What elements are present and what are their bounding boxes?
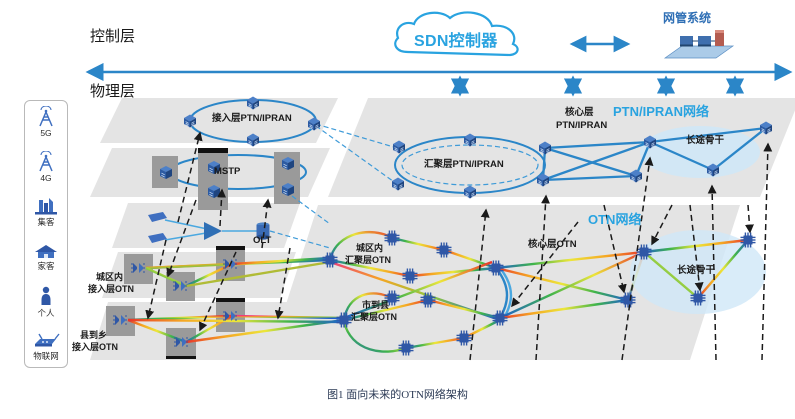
otn-core-label: 核心层OTN [528, 240, 577, 251]
legend-item-personal[interactable]: 个人 [25, 285, 67, 319]
legend-item-home[interactable]: 家客 [25, 242, 67, 272]
ptn-access-ring-label: 接入层PTN/IPRAN [212, 114, 292, 125]
nms-label: 网管系统 [663, 12, 711, 25]
legend-label-enterprise: 集客 [25, 216, 67, 228]
mstp-label: MSTP [214, 167, 240, 178]
sdn-controller-label: SDN控制器 [414, 33, 498, 51]
ptn-network-title: PTN/IPRAN网络 [613, 105, 709, 120]
mstp-pads [152, 148, 300, 210]
otn-county-access-label-line2: 接入层OTN [72, 342, 118, 352]
otn-network-title: OTN网络 [588, 213, 641, 228]
legend-label-personal: 个人 [25, 307, 67, 319]
ptn-agg-ring-label: 汇聚层PTN/IPRAN [424, 160, 504, 171]
legend-label-4g: 4G [25, 173, 67, 183]
legend-item-5g[interactable]: 5G [25, 106, 67, 138]
legend-item-4g[interactable]: 4G [25, 151, 67, 183]
service-legend-panel: 5G 4G 集客 [24, 100, 68, 368]
otn-backbone-label: 长途骨干 [677, 266, 715, 277]
antenna-5g-icon [33, 106, 59, 128]
figure-caption: 图1 面向未来的OTN网络架构 [0, 386, 795, 402]
otn-urban-agg-label-line2: 汇聚层OTN [345, 255, 391, 265]
legend-label-5g: 5G [25, 128, 67, 138]
enterprise-building-icon [32, 196, 60, 216]
iot-gateway-icon [31, 332, 61, 350]
physical-layer-label: 物理层 [90, 84, 135, 101]
legend-item-iot[interactable]: 物联网 [25, 332, 67, 362]
person-icon [36, 285, 56, 307]
control-layer-label: 控制层 [90, 29, 135, 46]
home-icon [32, 242, 60, 260]
otn-city-county-agg-label-line2: 汇聚层OTN [351, 312, 397, 322]
legend-label-home: 家客 [25, 260, 67, 272]
ptn-backbone-label: 长途骨干 [686, 136, 724, 147]
otn-urban-access-label-line1: 城区内 [96, 272, 123, 282]
network-diagram-svg [0, 0, 795, 419]
plane-connector-arrows [460, 78, 735, 94]
legend-item-enterprise[interactable]: 集客 [25, 196, 67, 228]
olt-label: OLT [253, 236, 271, 247]
otn-county-access-label-line1: 县到乡 [80, 330, 107, 340]
antenna-4g-icon [33, 151, 59, 173]
legend-label-iot: 物联网 [25, 350, 67, 362]
ptn-backbone-cloud [640, 126, 760, 178]
figure-canvas: 5G 4G 集客 [0, 0, 795, 419]
otn-urban-agg-label-line1: 城区内 [356, 243, 383, 253]
ptn-core-label-line2: PTN/IPRAN [556, 121, 607, 132]
ptn-core-label-line1: 核心层 [565, 108, 594, 119]
nms-server-icon [665, 30, 733, 58]
otn-city-county-agg-label-line1: 市到县 [362, 300, 389, 310]
otn-urban-access-label-line2: 接入层OTN [88, 284, 134, 294]
